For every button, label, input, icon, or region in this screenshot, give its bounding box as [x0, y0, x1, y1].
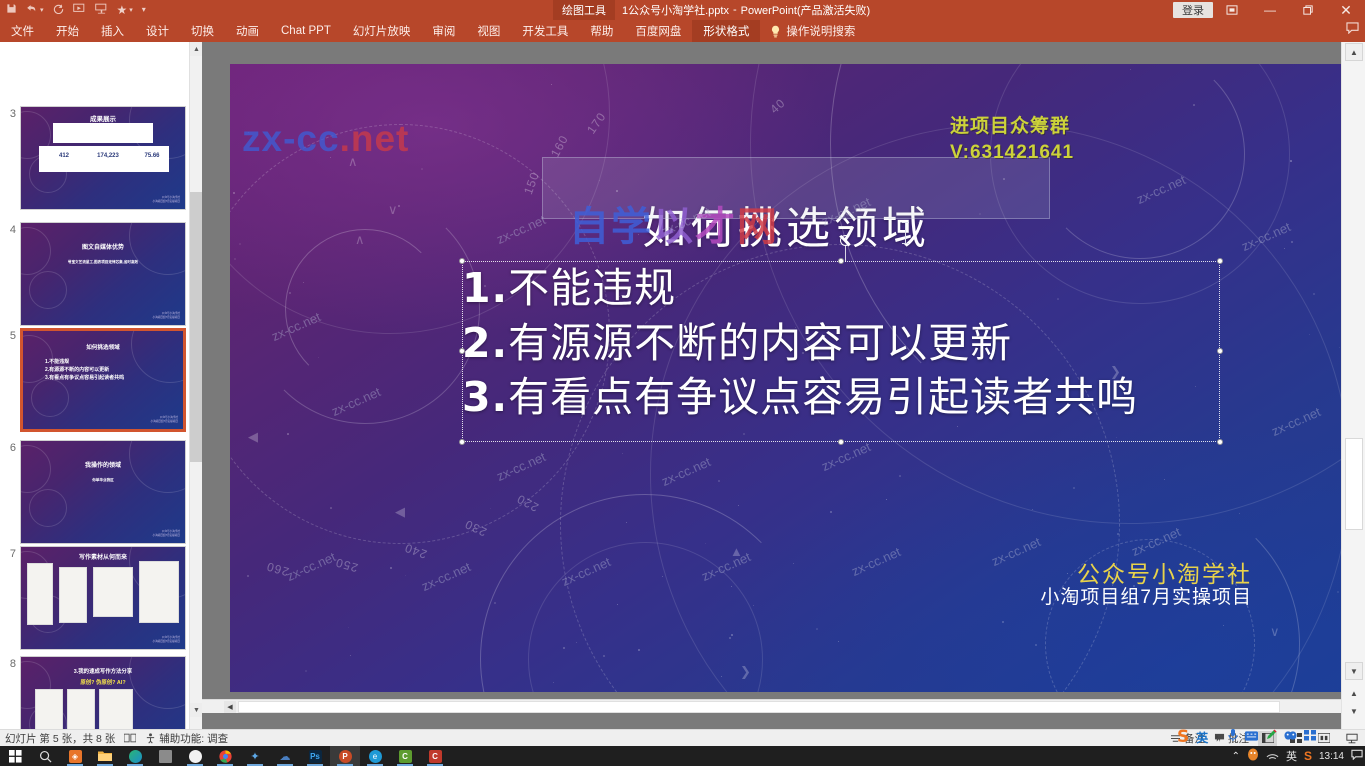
customize-toolbar-icon[interactable]: ▾ — [142, 6, 146, 14]
ribbon-tab-13[interactable]: 形状格式 — [692, 20, 760, 42]
thumb-ring — [29, 489, 67, 527]
watermark-char: 网 — [737, 194, 779, 252]
emoji-icon[interactable] — [1284, 728, 1297, 746]
thumb-footer: 公众号小淘学社小淘项目组7月实操项目 — [153, 196, 180, 204]
thumb-title: 3.我的速成写作方法分享 — [21, 667, 185, 675]
sogou-tray-icon[interactable]: S — [1304, 749, 1312, 763]
thumb-subtitle: 你单毕业我区 — [21, 478, 185, 483]
ribbon-tab-11[interactable]: 帮助 — [579, 20, 624, 42]
thumb-stat: 174,223 — [87, 153, 129, 159]
thumb-image — [27, 563, 53, 625]
slide-thumbnail[interactable]: 如何挑选领域1.不能违规2.有源源不断的内容可以更新3.有看点有争议点容易引起读… — [20, 328, 186, 432]
apps-icon[interactable] — [1304, 728, 1316, 746]
title-separator: - — [733, 4, 737, 16]
app-teal-icon[interactable]: e — [360, 746, 390, 766]
app-orange-icon[interactable]: ◈ — [60, 746, 90, 766]
ime-mode-label[interactable]: 英 — [1196, 729, 1208, 746]
thumb-title: 成果展示 — [21, 113, 185, 123]
next-slide-icon[interactable]: ▼ — [1345, 702, 1363, 720]
thumbnail-number: 8 — [0, 656, 20, 729]
thumb-footer: 公众号小淘学社小淘项目组7月实操项目 — [153, 636, 180, 644]
promo-watermark: 进项目众筹群 V:631421641 — [950, 114, 1074, 165]
edge-icon[interactable] — [120, 746, 150, 766]
ribbon-tab-7[interactable]: 幻灯片放映 — [342, 20, 422, 42]
usb-icon[interactable] — [150, 746, 180, 766]
application-name: PowerPoint(产品激活失败) — [741, 2, 871, 18]
thumb-card — [39, 146, 169, 172]
thumbnail-number: 7 — [0, 546, 20, 650]
thumb-subtitle: 原创? 伪原创? AI? — [21, 678, 185, 686]
vscroll-thumb[interactable] — [1345, 438, 1363, 530]
thumb-title: 我操作的领域 — [21, 460, 185, 469]
slide-thumbnail-item-7[interactable]: 7写作素材从何而来公众号小淘学社小淘项目组7月实操项目 — [0, 546, 202, 650]
window-controls[interactable]: — ✕ — [1213, 0, 1365, 20]
promo-line-1: 进项目众筹群 — [950, 114, 1074, 140]
slide-thumbnail-item-8[interactable]: 83.我的速成写作方法分享原创? 伪原创? AI?公众号小淘学社小淘项目组7月实… — [0, 656, 202, 729]
resize-handle-e[interactable] — [1217, 348, 1223, 354]
tell-me-search[interactable]: 操作说明搜索 — [760, 20, 865, 42]
start-slideshow-icon[interactable] — [73, 3, 86, 17]
slide-thumbnail-item-4[interactable]: 4图文自媒体优势号宝文艺流星工,图表项目定律芯集,省时高效公众号小淘学社小淘项目… — [0, 222, 202, 326]
hscroll-left-icon[interactable]: ◀ — [224, 701, 236, 713]
selection-frame[interactable] — [462, 261, 1220, 442]
thumb-ring — [31, 379, 69, 417]
search-icon[interactable] — [30, 746, 60, 766]
rotation-handle-stem — [845, 246, 846, 262]
undo-dropdown-icon[interactable]: ▾ — [40, 7, 44, 14]
thumb-ring — [29, 271, 67, 309]
watermark-char: 学 — [611, 194, 653, 252]
panel-scroll-down-icon[interactable]: ▼ — [190, 703, 202, 717]
language-icon[interactable] — [124, 733, 136, 743]
thumb-footer-line: 小淘项目组7月实操项目 — [153, 200, 180, 204]
canvas-vertical-scrollbar[interactable]: ▲ ▼ ▲ ▼ — [1341, 42, 1365, 729]
close-icon[interactable]: ✕ — [1327, 0, 1365, 20]
ribbon-tab-12[interactable]: 百度网盘 — [624, 20, 692, 42]
ribbon-tab-9[interactable]: 视图 — [466, 20, 511, 42]
reading-view-icon[interactable] — [1314, 731, 1333, 746]
favorite-dropdown-icon[interactable]: ▾ — [129, 7, 133, 14]
title-bar: ▾ ★ ▾ ▾ 绘图工具 1公众号小淘学社.pptx - PowerPoint(… — [0, 0, 1365, 20]
panel-scroll-thumb[interactable] — [190, 192, 202, 462]
slide-thumbnail[interactable]: 图文自媒体优势号宝文艺流星工,图表项目定律芯集,省时高效公众号小淘学社小淘项目组… — [20, 222, 186, 326]
thumb-card — [53, 123, 153, 143]
thumb-title: 写作素材从何而来 — [21, 552, 185, 561]
thumb-title: 图文自媒体优势 — [21, 242, 185, 251]
ime-punctuation-icon[interactable]: •, — [1215, 732, 1221, 742]
ribbon-tab-0[interactable]: 文件 — [0, 20, 45, 42]
thumb-footer: 公众号小淘学社小淘项目组7月实操项目 — [151, 416, 178, 424]
thumb-image — [67, 689, 95, 729]
panel-scroll-up-icon[interactable]: ▲ — [190, 42, 202, 56]
slide-panel-scrollbar[interactable]: ▲ ▼ — [189, 42, 202, 729]
thumbnail-number: 5 — [0, 328, 20, 432]
thumb-footer-line: 小淘项目组7月实操项目 — [153, 534, 180, 538]
ribbon-tab-5[interactable]: 动画 — [225, 20, 270, 42]
slide-thumbnail[interactable]: 写作素材从何而来公众号小淘学社小淘项目组7月实操项目 — [20, 546, 186, 650]
thumb-subtitle: 号宝文艺流星工,图表项目定律芯集,省时高效 — [21, 260, 185, 265]
text-cursor-icon — [905, 222, 906, 244]
restore-icon[interactable] — [1289, 0, 1327, 20]
ribbon-display-options-icon[interactable] — [1213, 0, 1251, 20]
resize-handle-n[interactable] — [838, 258, 844, 264]
slide-thumbnail-item-3[interactable]: 3成果展示412174,22375.66公众号小淘学社小淘项目组7月实操项目 — [0, 106, 202, 210]
ribbon-tab-1[interactable]: 开始 — [45, 20, 90, 42]
previous-slide-icon[interactable]: ▲ — [1345, 684, 1363, 702]
app-green-icon[interactable]: C — [390, 746, 420, 766]
domain-left: zx-cc — [242, 118, 340, 159]
resize-handle-sw[interactable] — [459, 439, 465, 445]
start-icon[interactable] — [0, 746, 30, 766]
file-explorer-icon[interactable] — [90, 746, 120, 766]
vscroll-down-icon[interactable]: ▼ — [1345, 662, 1363, 680]
slide-editing-surface[interactable]: 40150160170260250240230220∧∨∧◀◀❯❯▲∨ 如何挑选… — [202, 42, 1341, 729]
thumb-footer-line: 小淘项目组7月实操项目 — [153, 640, 180, 644]
slide-thumbnail-item-6[interactable]: 6我操作的领域你单毕业我区公众号小淘学社小淘项目组7月实操项目 — [0, 440, 202, 544]
thumb-image — [59, 567, 87, 623]
ribbon-tabs: 文件开始插入设计切换动画Chat PPT幻灯片放映审阅视图开发工具帮助百度网盘形… — [0, 20, 1365, 42]
thumb-image — [139, 561, 179, 623]
decor-chevron-8: ∨ — [1270, 624, 1280, 640]
ribbon-tab-3[interactable]: 设计 — [135, 20, 180, 42]
thumb-list-line: 1.不能违规 — [45, 358, 69, 365]
qq-icon[interactable] — [1247, 748, 1259, 764]
contextual-tab-group-label: 绘图工具 — [553, 0, 615, 20]
slide-footer-white[interactable]: 小淘项目组7月实操项目 — [1040, 582, 1252, 609]
thumb-footer: 公众号小淘学社小淘项目组7月实操项目 — [153, 530, 180, 538]
undo-icon[interactable] — [26, 3, 38, 17]
work-area: 3成果展示412174,22375.66公众号小淘学社小淘项目组7月实操项目4图… — [0, 42, 1365, 729]
decor-chevron-5: ❯ — [740, 664, 751, 680]
watermark-char: 才 — [695, 194, 737, 252]
accessibility-status[interactable]: 辅助功能: 调查 — [145, 731, 228, 746]
present-from-current-icon[interactable] — [95, 3, 108, 17]
thumb-image — [93, 567, 133, 617]
thumb-footer-line: 小淘项目组7月实操项目 — [151, 420, 178, 424]
ribbon-comment-icon[interactable] — [1346, 22, 1359, 37]
decor-chevron-3: ◀ — [395, 504, 405, 520]
thumbnail-number: 4 — [0, 222, 20, 326]
powerpoint-icon[interactable]: P — [330, 746, 360, 766]
slideshow-icon[interactable] — [1342, 731, 1361, 746]
thumb-footer: 公众号小淘学社小淘项目组7月实操项目 — [153, 312, 180, 320]
watermark-char: 自 — [569, 194, 611, 252]
slide-thumbnail[interactable]: 3.我的速成写作方法分享原创? 伪原创? AI?公众号小淘学社小淘项目组7月实操… — [20, 656, 186, 729]
app-white-icon[interactable] — [180, 746, 210, 766]
lightbulb-icon — [770, 25, 781, 38]
save-icon[interactable] — [6, 3, 17, 17]
tray-chevron-icon[interactable]: ⌃ — [1232, 751, 1240, 762]
sogou-logo-icon[interactable]: S — [1177, 727, 1189, 747]
decor-chevron-4: ◀ — [248, 429, 258, 445]
thumb-image — [35, 689, 63, 729]
resize-handle-ne[interactable] — [1217, 258, 1223, 264]
promo-line-2: V:631421641 — [950, 140, 1074, 166]
vscroll-up-icon[interactable]: ▲ — [1345, 43, 1363, 61]
resize-handle-nw[interactable] — [459, 258, 465, 264]
thumb-title: 如何挑选领域 — [23, 343, 183, 351]
accessibility-label: 辅助功能: 调查 — [159, 731, 228, 746]
redo-icon[interactable] — [53, 3, 64, 17]
taskbar-clock[interactable]: 13:14 — [1319, 751, 1344, 762]
status-bar: 幻灯片 第 5 张，共 8 张 辅助功能: 调查 备注 批注 — [0, 729, 1365, 746]
document-title: 1公众号小淘学社.pptx - PowerPoint(产品激活失败) — [622, 0, 874, 20]
thumbnail-number: 6 — [0, 440, 20, 544]
sign-in-button[interactable]: 登录 — [1173, 2, 1213, 18]
rotation-handle[interactable] — [840, 235, 851, 246]
thumb-stat: 412 — [43, 153, 85, 159]
resize-handle-s[interactable] — [838, 439, 844, 445]
slide-thumbnail-item-5[interactable]: 5如何挑选领域1.不能违规2.有源源不断的内容可以更新3.有看点有争议点容易引起… — [0, 328, 202, 432]
slide-canvas[interactable]: 40150160170260250240230220∧∨∧◀◀❯❯▲∨ 如何挑选… — [230, 64, 1342, 692]
pen-icon[interactable] — [1265, 728, 1277, 746]
document-filename: 1公众号小淘学社.pptx — [622, 2, 729, 18]
voice-input-icon[interactable] — [1228, 728, 1238, 746]
domain-right: .net — [340, 118, 410, 159]
ribbon-tab-6[interactable]: Chat PPT — [270, 20, 342, 42]
network-icon[interactable] — [1266, 750, 1279, 763]
notification-icon[interactable] — [1351, 749, 1363, 763]
ribbon-tab-10[interactable]: 开发工具 — [511, 20, 579, 42]
thumb-list-line: 2.有源源不断的内容可以更新 — [45, 366, 109, 373]
favorite-icon[interactable]: ★ — [117, 4, 128, 16]
photoshop-icon[interactable]: Ps — [300, 746, 330, 766]
app-red-icon[interactable]: C — [420, 746, 450, 766]
sparkle — [1337, 591, 1339, 593]
chrome-icon[interactable] — [210, 746, 240, 766]
hscroll-thumb[interactable] — [238, 701, 1280, 713]
taskbar[interactable]: ◈ ✦ ☁ Ps P e C C ⌃ 英 S 13:14 — [0, 746, 1365, 766]
keyboard-icon[interactable] — [1245, 728, 1258, 746]
ime-language-icon[interactable]: 英 — [1286, 748, 1297, 764]
leaf-icon[interactable]: ☁ — [270, 746, 300, 766]
thumb-image — [99, 689, 133, 729]
thumb-stat: 75.66 — [131, 153, 173, 159]
slide-thumbnail-panel[interactable]: 3成果展示412174,22375.66公众号小淘学社小淘项目组7月实操项目4图… — [0, 42, 202, 729]
tell-me-label: 操作说明搜索 — [786, 23, 855, 39]
quick-access-toolbar[interactable]: ▾ ★ ▾ ▾ — [6, 0, 146, 20]
ribbon-tab-bar: 文件开始插入设计切换动画Chat PPT幻灯片放映审阅视图开发工具帮助百度网盘形… — [0, 20, 1365, 42]
thumb-list-line: 3.有看点有争议点容易引起读者共鸣 — [45, 374, 124, 381]
system-tray[interactable]: ⌃ 英 S 13:14 — [1232, 748, 1363, 764]
minimize-icon[interactable]: — — [1251, 0, 1289, 20]
thumb-footer-line: 小淘项目组7月实操项目 — [153, 316, 180, 320]
sogou-ime-bar[interactable]: S 英 •, — [1177, 727, 1316, 747]
watermark-domain: zx-cc.net — [242, 118, 409, 160]
ribbon-tab-4[interactable]: 切换 — [180, 20, 225, 42]
slide-counter[interactable]: 幻灯片 第 5 张，共 8 张 — [5, 731, 115, 746]
canvas-horizontal-scrollbar[interactable]: ◀ — [202, 699, 1341, 713]
ribbon-tab-8[interactable]: 审阅 — [421, 20, 466, 42]
thumbnail-number: 3 — [0, 106, 20, 210]
resize-handle-w[interactable] — [459, 348, 465, 354]
slide-thumbnail[interactable]: 成果展示412174,22375.66公众号小淘学社小淘项目组7月实操项目 — [20, 106, 186, 210]
slide-thumbnail[interactable]: 我操作的领域你单毕业我区公众号小淘学社小淘项目组7月实操项目 — [20, 440, 186, 544]
resize-handle-se[interactable] — [1217, 439, 1223, 445]
bird-icon[interactable]: ✦ — [240, 746, 270, 766]
ribbon-tab-2[interactable]: 插入 — [90, 20, 135, 42]
